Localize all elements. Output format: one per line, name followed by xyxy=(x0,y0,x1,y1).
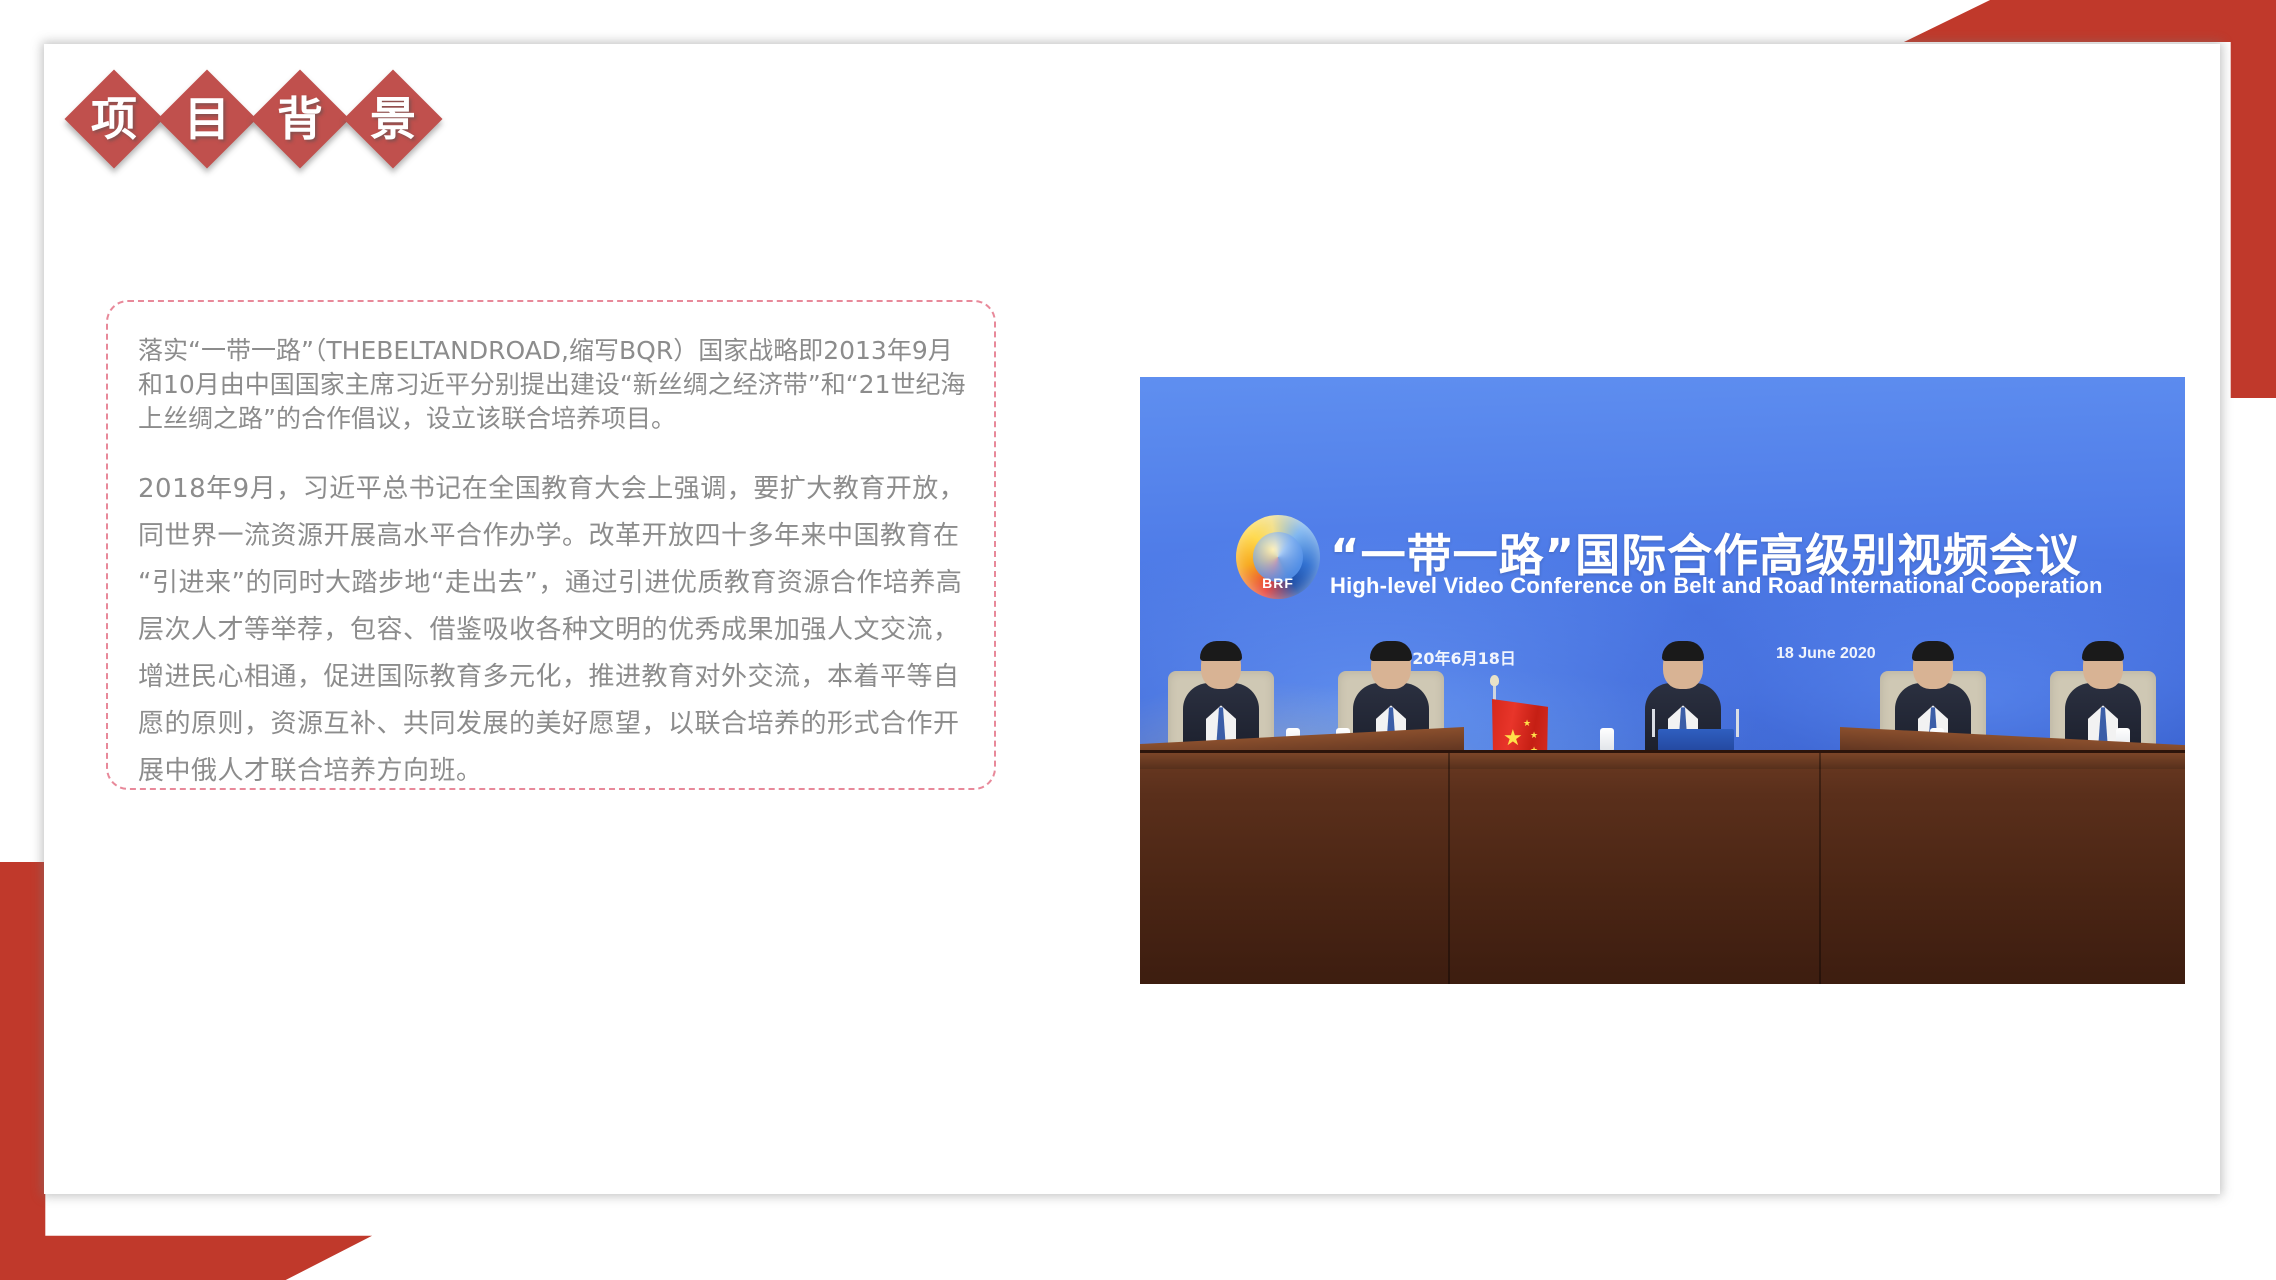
nameplate xyxy=(1658,729,1734,751)
water-cup xyxy=(1600,728,1614,752)
table-seam xyxy=(1448,753,1450,984)
conference-table xyxy=(1140,750,2185,984)
participant-hair xyxy=(2082,641,2124,661)
title-character: 背 xyxy=(277,96,323,142)
participant-hair xyxy=(1912,641,1954,661)
title-diamond-2: 目 xyxy=(159,71,255,167)
slide-canvas: 项 目 背 景 落实“一带一路”（THEBELTANDROAD,缩写BQR）国家… xyxy=(0,0,2276,1280)
banner-date-english: 18 June 2020 xyxy=(1776,645,1876,663)
body-paragraph-2: 2018年9月，习近平总书记在全国教育大会上强调，要扩大教育开放，同世界一流资源… xyxy=(138,466,968,795)
conference-participant xyxy=(1178,621,1264,753)
title-character: 景 xyxy=(370,96,416,142)
title-diamond-1: 项 xyxy=(66,71,162,167)
microphone xyxy=(1652,709,1655,737)
title-character: 目 xyxy=(184,96,230,142)
participant-hair xyxy=(1200,641,1242,661)
brf-logo-label: BRF xyxy=(1262,575,1294,591)
conference-photo: BRF “一带一路”国际合作高级别视频会议 High-level Video C… xyxy=(1140,377,2185,984)
conference-participant xyxy=(2060,621,2146,753)
participant-hair xyxy=(1662,641,1704,661)
microphone xyxy=(1736,709,1739,737)
body-paragraph-1: 落实“一带一路”（THEBELTANDROAD,缩写BQR）国家战略即2013年… xyxy=(138,334,968,436)
page-title: 项 目 背 景 xyxy=(66,49,438,189)
content-card: 项 目 背 景 落实“一带一路”（THEBELTANDROAD,缩写BQR）国家… xyxy=(44,44,2220,1194)
flag-star-small: ★ xyxy=(1523,719,1531,728)
title-diamond-3: 背 xyxy=(252,71,348,167)
body-text-content: 落实“一带一路”（THEBELTANDROAD,缩写BQR）国家战略即2013年… xyxy=(138,334,968,795)
flag-star-large: ★ xyxy=(1503,727,1523,749)
title-character: 项 xyxy=(91,96,137,142)
table-rim xyxy=(1140,753,2185,769)
banner-title-english: High-level Video Conference on Belt and … xyxy=(1330,573,2103,599)
table-seam xyxy=(1819,753,1821,984)
body-text-box: 落实“一带一路”（THEBELTANDROAD,缩写BQR）国家战略即2013年… xyxy=(106,300,996,790)
participant-hair xyxy=(1370,641,1412,661)
title-diamond-4: 景 xyxy=(345,71,441,167)
flag-star-small: ★ xyxy=(1530,731,1538,740)
brf-logo-icon: BRF xyxy=(1236,515,1320,599)
